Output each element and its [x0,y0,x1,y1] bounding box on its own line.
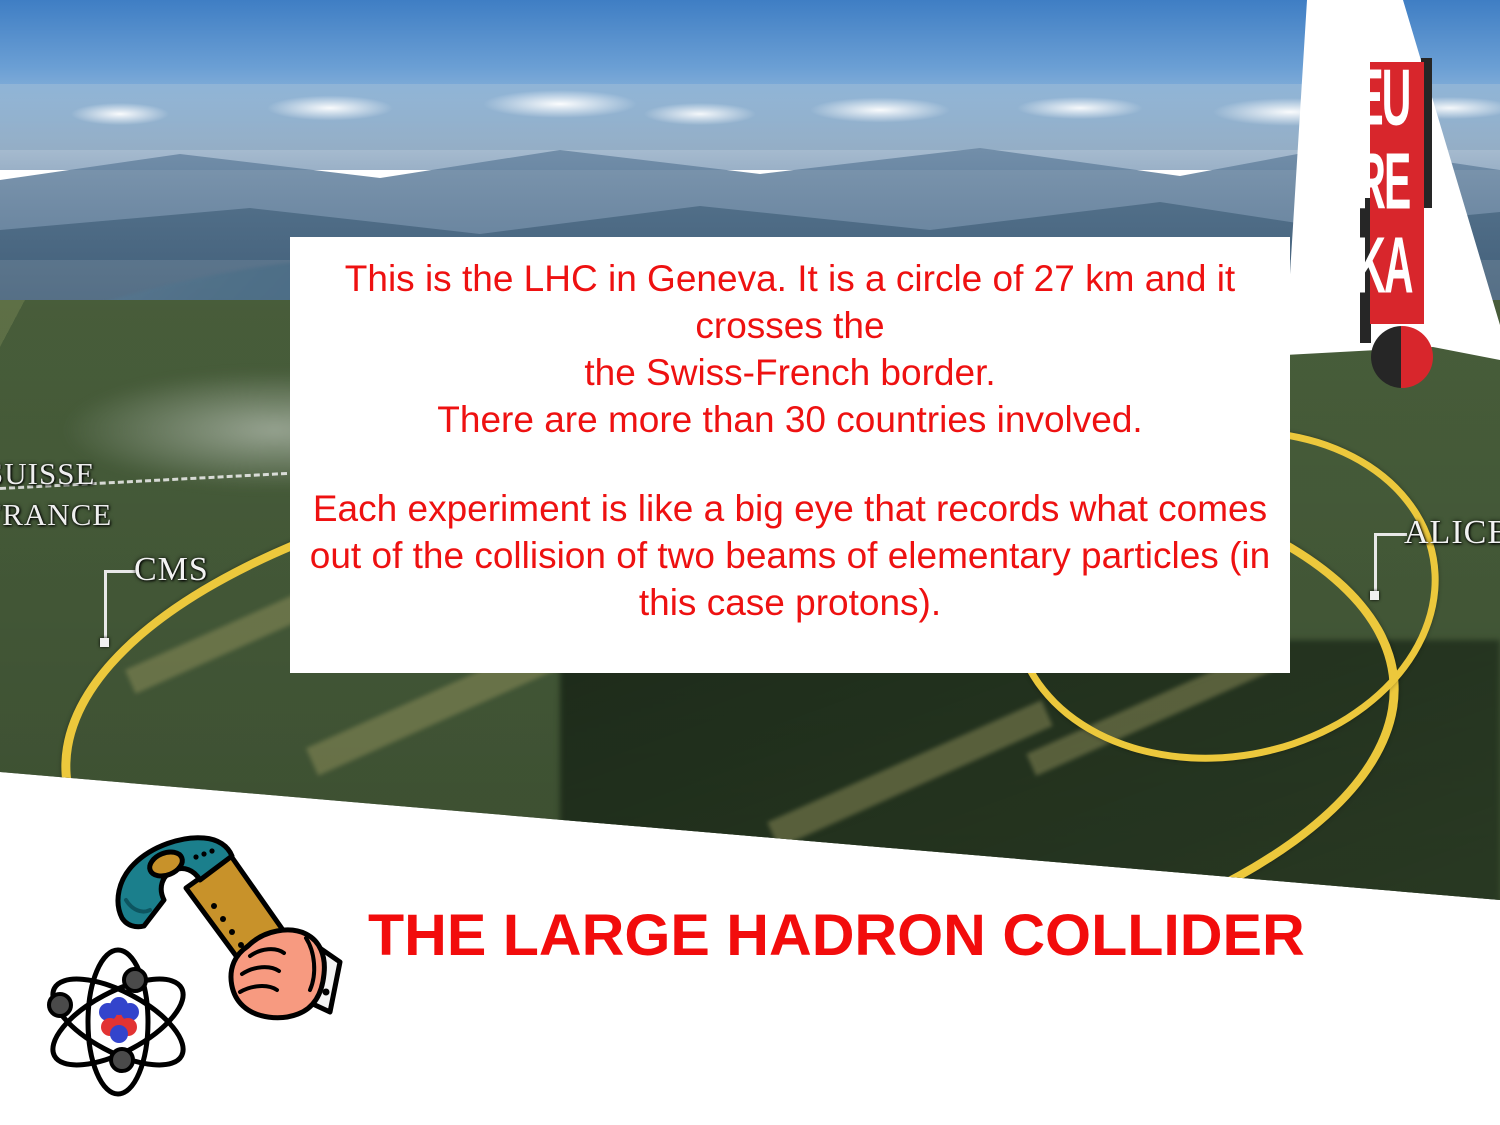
eureka-logo: EU RE KA [1355,50,1445,360]
description-text-panel: This is the LHC in Geneva. It is a circl… [290,237,1290,673]
cms-leader-line [104,570,137,645]
snowy-alps-band [0,84,1500,170]
logo-text-row-3: KA [1356,226,1407,307]
alice-detector-label: ALICE [1404,514,1500,552]
cms-detector-label: CMS [134,551,209,589]
description-paragraph-2: Each experiment is like a big eye that r… [308,485,1272,626]
france-label: FRANCE [0,497,112,533]
cms-site-marker [100,638,109,647]
clipart-svg [18,822,368,1122]
paragraph-spacer [308,443,1272,485]
logo-half-circle-mark [1371,326,1433,388]
alice-leader-line [1374,533,1407,598]
description-paragraph-1: This is the LHC in Geneva. It is a circl… [308,255,1272,443]
suisse-label: SUISSE [0,456,95,492]
atom-icon [40,950,195,1094]
slide-root: SUISSE FRANCE CMS ALICE EU RE KA This is… [0,0,1500,1125]
logo-text-row-2: RE [1356,142,1407,223]
alice-site-marker [1370,591,1379,600]
logo-text-row-1: EU [1356,58,1407,139]
hammer-and-atom-illustration [18,822,368,1122]
page-title: THE LARGE HADRON COLLIDER [368,902,1305,969]
